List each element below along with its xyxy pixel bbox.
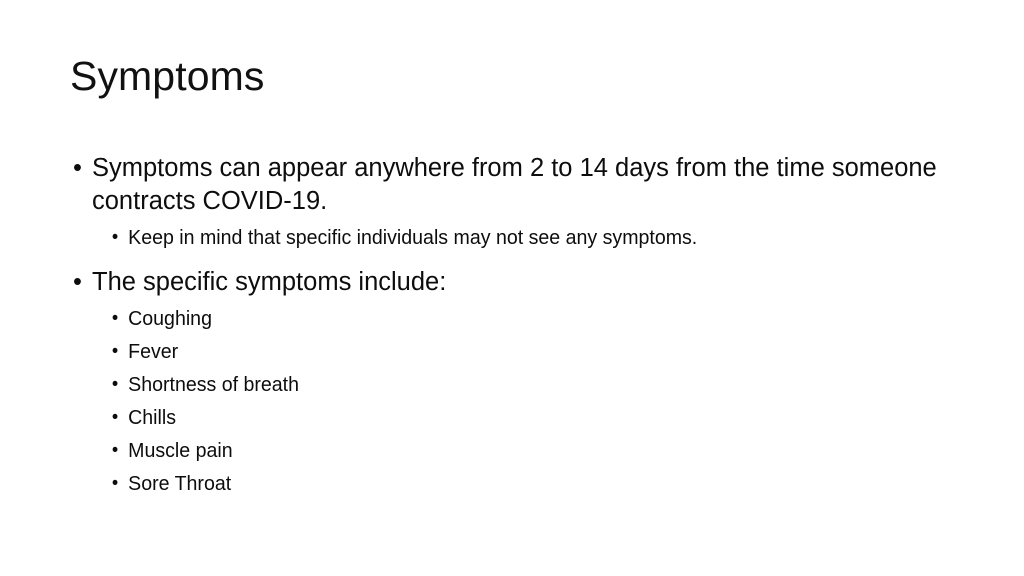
bullet-text: Chills: [128, 401, 912, 434]
bullet-glyph-icon: •: [112, 335, 118, 368]
bullet-item-muscle-pain: • Muscle pain: [110, 434, 912, 467]
bullet-glyph-icon: •: [73, 152, 82, 185]
bullet-item-incubation: • Symptoms can appear anywhere from 2 to…: [70, 152, 950, 218]
bullet-text: Symptoms can appear anywhere from 2 to 1…: [92, 152, 950, 218]
bullet-list-level2-symptoms: • Coughing • Fever • Shortness of breath…: [70, 302, 950, 500]
bullet-text: Sore Throat: [128, 467, 912, 500]
bullet-item-fever: • Fever: [110, 335, 912, 368]
bullet-item-sore-throat: • Sore Throat: [110, 467, 912, 500]
slide-canvas: Symptoms • Symptoms can appear anywhere …: [0, 0, 1024, 576]
bullet-item-asymptomatic-note: • Keep in mind that specific individuals…: [110, 221, 912, 254]
bullet-glyph-icon: •: [112, 368, 118, 401]
bullet-item-chills: • Chills: [110, 401, 912, 434]
bullet-glyph-icon: •: [112, 467, 118, 500]
bullet-text: The specific symptoms include:: [92, 266, 950, 299]
group-spacer: [70, 256, 950, 266]
bullet-glyph-icon: •: [73, 266, 82, 299]
bullet-glyph-icon: •: [112, 302, 118, 335]
bullet-text: Shortness of breath: [128, 368, 912, 401]
bullet-item-symptom-list-header: • The specific symptoms include:: [70, 266, 950, 299]
bullet-text: Keep in mind that specific individuals m…: [128, 221, 912, 254]
bullet-text: Muscle pain: [128, 434, 912, 467]
page-title: Symptoms: [70, 52, 950, 100]
bullet-text: Coughing: [128, 302, 912, 335]
bullet-list-level2-note: • Keep in mind that specific individuals…: [70, 221, 950, 254]
bullet-list-level1-group1: • Symptoms can appear anywhere from 2 to…: [70, 152, 950, 218]
bullet-glyph-icon: •: [112, 434, 118, 467]
bullet-item-shortness-of-breath: • Shortness of breath: [110, 368, 912, 401]
bullet-glyph-icon: •: [112, 221, 118, 254]
bullet-text: Fever: [128, 335, 912, 368]
bullet-item-coughing: • Coughing: [110, 302, 912, 335]
bullet-list-level1-group2: • The specific symptoms include:: [70, 266, 950, 299]
slide-body: • Symptoms can appear anywhere from 2 to…: [70, 152, 950, 502]
bullet-glyph-icon: •: [112, 401, 118, 434]
